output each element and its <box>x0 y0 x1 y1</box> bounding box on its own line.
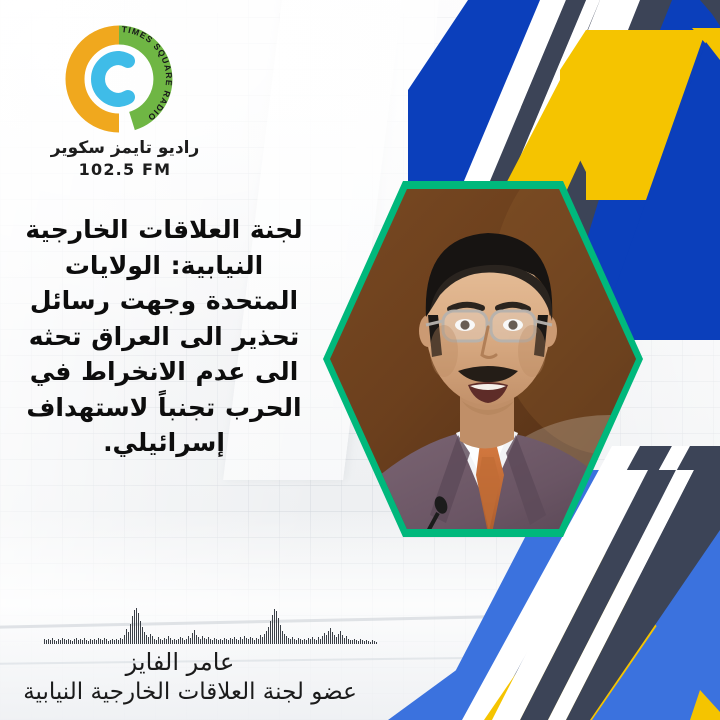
waveform-bar <box>66 640 67 644</box>
waveform-bar <box>290 639 291 644</box>
waveform-bar <box>318 637 319 644</box>
waveform-bar <box>284 634 285 644</box>
waveform-bar <box>168 636 169 644</box>
waveform-bar <box>370 642 371 644</box>
waveform-bar <box>340 631 341 644</box>
portrait-photo <box>310 175 648 543</box>
waveform-bar <box>208 637 209 644</box>
waveform-bar <box>76 638 77 644</box>
waveform-bar <box>172 640 173 644</box>
waveform-bar <box>232 639 233 644</box>
waveform-bar <box>206 639 207 644</box>
waveform-bar <box>190 638 191 644</box>
waveform-bar <box>130 624 131 644</box>
radio-ring-icon: TIMES SQUARE RADIO 102.5 FM <box>58 18 180 140</box>
waveform-bar <box>262 637 263 644</box>
waveform-bar <box>68 639 69 644</box>
waveform-bar <box>138 613 139 644</box>
waveform-bar <box>302 640 303 644</box>
waveform-bar <box>306 640 307 644</box>
waveform-bar <box>132 616 133 644</box>
waveform-bar <box>126 629 127 644</box>
waveform-bar <box>268 627 269 644</box>
waveform-bar <box>280 625 281 644</box>
station-logo[interactable]: TIMES SQUARE RADIO 102.5 FM راديو تايمز … <box>36 18 216 188</box>
waveform-bar <box>234 637 235 644</box>
waveform-bar <box>224 638 225 644</box>
waveform-bar <box>120 638 121 644</box>
waveform-bar <box>226 639 227 644</box>
waveform-bar <box>174 639 175 644</box>
waveform-bar <box>360 639 361 644</box>
waveform-bar <box>212 640 213 644</box>
waveform-bar <box>252 638 253 644</box>
waveform-bar <box>118 640 119 644</box>
waveform-bar <box>230 638 231 644</box>
waveform-bar <box>316 640 317 644</box>
waveform-bar <box>152 636 153 644</box>
waveform-bar <box>266 631 267 644</box>
waveform-bar <box>324 633 325 644</box>
waveform-bar <box>342 635 343 644</box>
waveform-bar <box>184 640 185 644</box>
waveform-bar <box>58 639 59 644</box>
waveform-bar <box>372 640 373 644</box>
waveform-bar <box>114 640 115 644</box>
logo-arabic-name: راديو تايمز سكوير <box>36 138 214 158</box>
waveform-bar <box>296 640 297 644</box>
waveform-bar <box>94 639 95 644</box>
waveform-bar <box>92 640 93 644</box>
waveform-bar <box>144 632 145 644</box>
waveform-bar <box>344 638 345 644</box>
logo-frequency: 102.5 FM <box>36 160 214 179</box>
waveform-bar <box>242 639 243 644</box>
waveform-bar <box>142 627 143 644</box>
waveform-bar <box>218 640 219 644</box>
waveform-bar <box>148 637 149 644</box>
waveform-bar <box>140 621 141 644</box>
news-graphic-card: TIMES SQUARE RADIO 102.5 FM راديو تايمز … <box>0 0 720 720</box>
waveform-bar <box>74 639 75 644</box>
waveform-bar <box>44 639 45 644</box>
waveform-bar <box>194 630 195 644</box>
waveform-bar <box>124 635 125 644</box>
waveform-bar <box>52 638 53 644</box>
waveform-bar <box>82 640 83 644</box>
waveform-bar <box>298 638 299 644</box>
waveform-bar <box>158 637 159 644</box>
waveform-bar <box>250 637 251 644</box>
waveform-bar <box>154 639 155 644</box>
waveform-bar <box>308 638 309 644</box>
waveform-bar <box>200 639 201 644</box>
waveform-bar <box>240 637 241 644</box>
waveform-bar <box>64 639 65 644</box>
waveform-bar <box>106 639 107 644</box>
waveform-bar <box>256 638 257 644</box>
waveform-bar <box>54 640 55 644</box>
waveform-bar <box>238 640 239 644</box>
waveform-bar <box>86 640 87 644</box>
waveform-bar <box>136 608 137 644</box>
waveform-bar <box>374 641 375 644</box>
waveform-bar <box>260 635 261 644</box>
waveform-bar <box>104 638 105 644</box>
waveform-bar <box>178 639 179 644</box>
waveform-bar <box>198 637 199 644</box>
waveform-bar <box>84 638 85 644</box>
waveform-bar <box>166 639 167 644</box>
waveform-bar <box>314 639 315 644</box>
speaker-portrait-hexagon <box>310 175 648 543</box>
waveform-bar <box>176 640 177 644</box>
waveform-bar <box>192 633 193 644</box>
speaker-name: عامر الفايز <box>0 648 360 676</box>
waveform-bar <box>116 639 117 644</box>
waveform-bar <box>122 639 123 644</box>
waveform-bar <box>160 639 161 644</box>
waveform-bar <box>48 639 49 644</box>
waveform-bar <box>62 638 63 644</box>
waveform-bar <box>288 638 289 644</box>
waveform-bar <box>164 638 165 644</box>
waveform-bar <box>328 631 329 644</box>
waveform-bar <box>320 639 321 644</box>
waveform-bar <box>72 641 73 644</box>
waveform-bar <box>336 637 337 644</box>
waveform-bar <box>96 640 97 644</box>
waveform-bar <box>350 640 351 644</box>
waveform-bar <box>80 639 81 644</box>
waveform-bar <box>254 640 255 644</box>
waveform-bar <box>228 640 229 644</box>
waveform-bar <box>332 632 333 644</box>
waveform-bar <box>182 638 183 644</box>
waveform-bar <box>310 639 311 644</box>
waveform-bar <box>282 631 283 644</box>
waveform-bar <box>244 636 245 644</box>
waveform-bar <box>170 638 171 644</box>
waveform-bar <box>368 641 369 644</box>
waveform-bar <box>294 639 295 644</box>
waveform-bar <box>46 640 47 644</box>
waveform-bar <box>322 636 323 644</box>
waveform-bar <box>276 611 277 644</box>
waveform-bar <box>202 636 203 644</box>
waveform-bar <box>312 637 313 644</box>
waveform-bar <box>246 638 247 644</box>
waveform-bar <box>222 640 223 644</box>
waveform-bar <box>186 639 187 644</box>
waveform-bar <box>348 639 349 644</box>
waveform-bar <box>56 641 57 644</box>
waveform-bar <box>358 641 359 644</box>
waveform-bar <box>352 640 353 644</box>
waveform-bar <box>376 642 377 644</box>
waveform-bar <box>264 634 265 644</box>
waveform-bar <box>134 610 135 644</box>
waveform-bar <box>270 621 271 644</box>
waveform-bar <box>330 628 331 644</box>
waveform-bar <box>300 639 301 644</box>
waveform-bar <box>366 640 367 644</box>
waveform-bar <box>362 640 363 644</box>
waveform-bar <box>248 639 249 644</box>
waveform-bar <box>274 609 275 644</box>
waveform-bar <box>60 640 61 644</box>
waveform-bar <box>304 639 305 644</box>
waveform-bar <box>70 640 71 644</box>
waveform-bar <box>108 641 109 644</box>
waveform-bar <box>88 641 89 644</box>
waveform-bar <box>98 638 99 644</box>
waveform-bar <box>346 636 347 644</box>
waveform-bar <box>210 639 211 644</box>
waveform-bar <box>156 640 157 644</box>
waveform-bar <box>204 638 205 644</box>
headline-text: لجنة العلاقات الخارجية النيابية: الولايا… <box>16 212 312 461</box>
waveform-bar <box>354 639 355 644</box>
waveform-bar <box>112 639 113 644</box>
waveform-bar <box>258 639 259 644</box>
waveform-bar <box>292 637 293 644</box>
waveform-bar <box>150 634 151 644</box>
waveform-bar <box>278 618 279 644</box>
waveform-bar <box>356 640 357 644</box>
waveform-bar <box>162 640 163 644</box>
waveform-bar <box>102 640 103 644</box>
waveform-bar <box>128 632 129 644</box>
waveform-bar <box>100 639 101 644</box>
waveform-bar <box>272 615 273 644</box>
waveform-bar <box>188 636 189 644</box>
speaker-role: عضو لجنة العلاقات الخارجية النيابية <box>0 679 380 705</box>
waveform-bar <box>326 635 327 644</box>
waveform-bar <box>220 639 221 644</box>
waveform-bar <box>286 636 287 644</box>
waveform-bar <box>236 639 237 644</box>
waveform-bar <box>196 635 197 644</box>
waveform-bar <box>338 634 339 644</box>
waveform-bar <box>216 639 217 644</box>
audio-waveform <box>44 606 334 644</box>
waveform-bar <box>334 635 335 644</box>
waveform-bar <box>110 640 111 644</box>
waveform-bar <box>90 639 91 644</box>
waveform-bar <box>214 638 215 644</box>
waveform-bar <box>50 640 51 644</box>
waveform-bar <box>146 635 147 644</box>
waveform-bar <box>78 640 79 644</box>
waveform-bar <box>364 641 365 644</box>
waveform-bar <box>180 637 181 644</box>
